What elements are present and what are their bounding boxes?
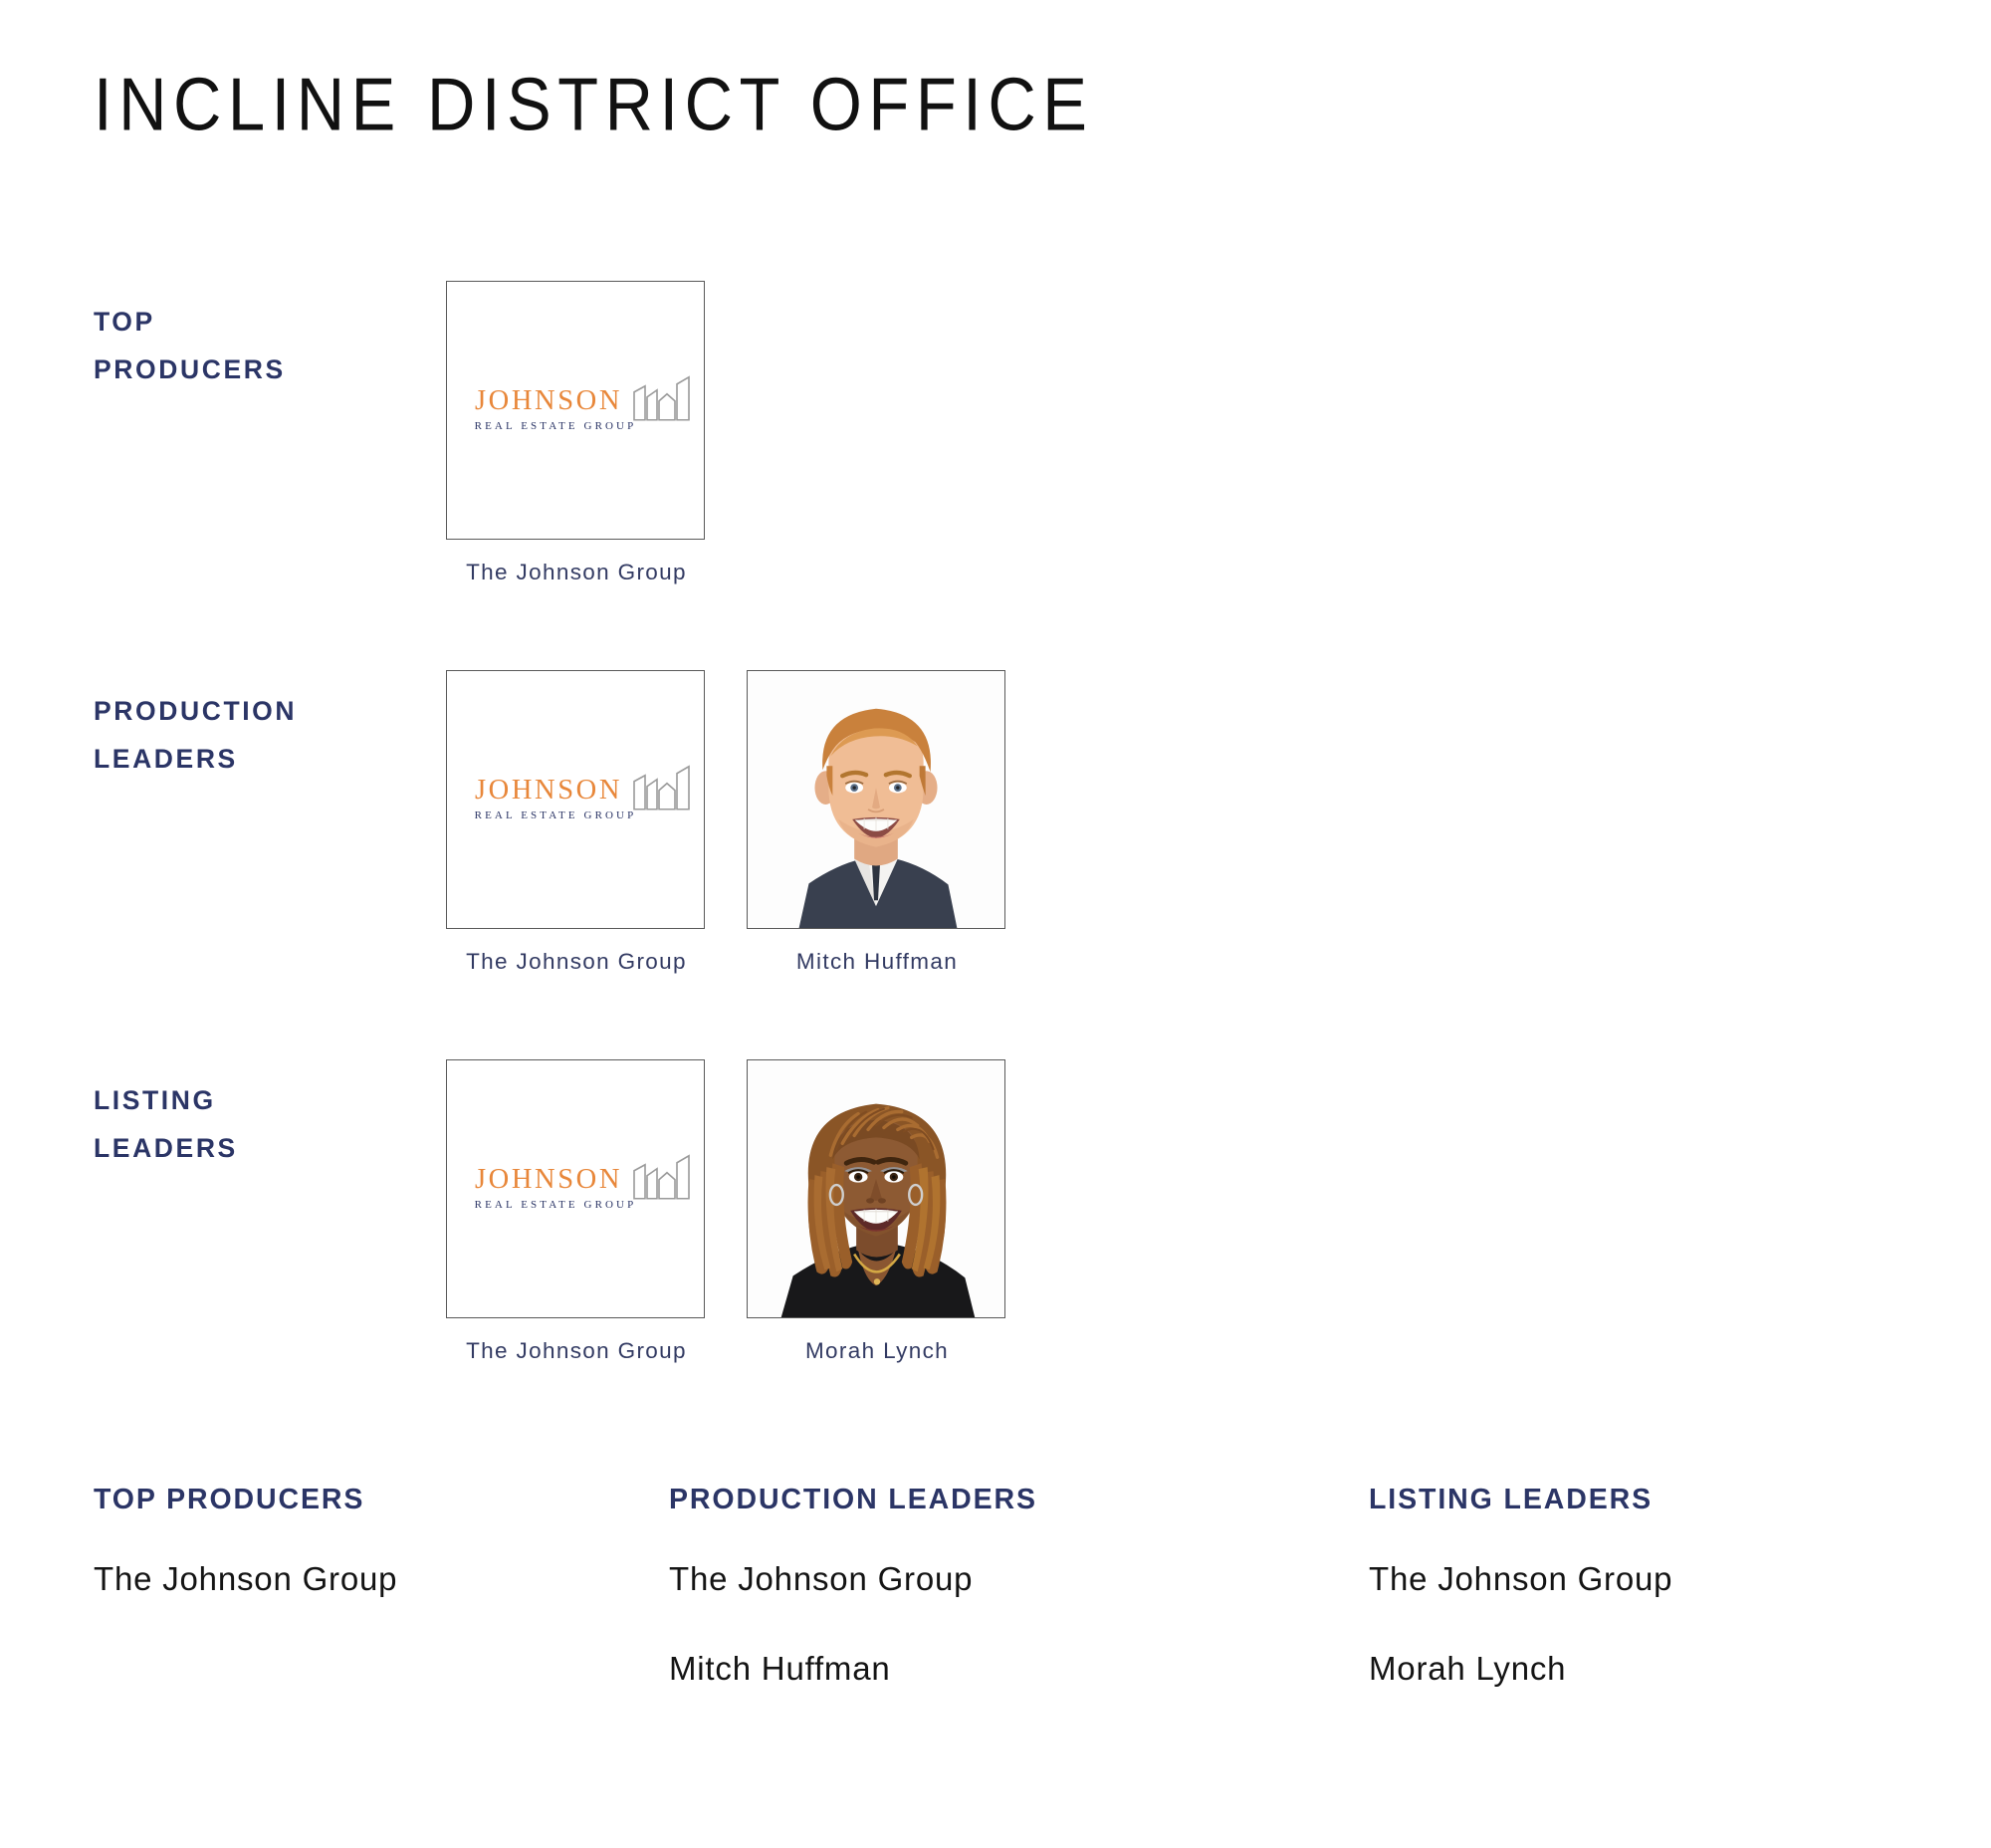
list-item: The Johnson Group xyxy=(1369,1560,1886,1598)
row-label-line-1: TOP xyxy=(94,298,392,346)
johnson-real-estate-group-logo: JOHNSON REAL ESTATE GROUP xyxy=(447,777,704,823)
award-card[interactable]: JOHNSON REAL ESTATE GROUP The Johnson Gr… xyxy=(446,281,707,587)
award-card-caption: The Johnson Group xyxy=(446,558,707,587)
award-card-caption: The Johnson Group xyxy=(446,947,707,977)
logo-wordmark: JOHNSON xyxy=(461,777,637,806)
award-card-caption: Mitch Huffman xyxy=(747,947,1007,977)
award-card[interactable]: Mitch Huffman xyxy=(747,670,1007,977)
award-card-image-frame: JOHNSON REAL ESTATE GROUP xyxy=(446,670,705,929)
summary-column-title: LISTING LEADERS xyxy=(1369,1484,1886,1516)
logo-wordmark: JOHNSON xyxy=(461,1166,637,1195)
list-item: Mitch Huffman xyxy=(669,1650,1187,1688)
summary-column-top-producers: TOP PRODUCERS The Johnson Group xyxy=(94,1484,611,1650)
row-label-line-2: LEADERS xyxy=(94,1124,392,1172)
buildings-icon xyxy=(632,374,692,420)
johnson-real-estate-group-logo: JOHNSON REAL ESTATE GROUP xyxy=(447,387,704,434)
list-item: The Johnson Group xyxy=(669,1560,1187,1598)
row-label-production-leaders: PRODUCTION LEADERS xyxy=(94,687,392,783)
headshot-mitch-huffman xyxy=(748,671,1004,928)
award-card-caption: Morah Lynch xyxy=(747,1336,1007,1366)
award-card[interactable]: Morah Lynch xyxy=(747,1059,1007,1366)
row-label-line-2: PRODUCERS xyxy=(94,346,392,393)
row-label-line-2: LEADERS xyxy=(94,735,392,783)
logo-tagline: REAL ESTATE GROUP xyxy=(461,809,637,820)
award-cards-listing-leaders: JOHNSON REAL ESTATE GROUP The Johnson Gr… xyxy=(446,1059,1007,1366)
summary-column-list: The Johnson Group Mitch Huffman xyxy=(669,1560,1187,1688)
row-label-listing-leaders: LISTING LEADERS xyxy=(94,1076,392,1172)
logo-wordmark: JOHNSON xyxy=(461,387,637,416)
award-cards-top-producers: JOHNSON REAL ESTATE GROUP The Johnson Gr… xyxy=(446,281,707,587)
logo-tagline: REAL ESTATE GROUP xyxy=(461,1199,637,1210)
summary-column-title: TOP PRODUCERS xyxy=(94,1484,611,1516)
award-card-caption: The Johnson Group xyxy=(446,1336,707,1366)
summary-column-listing-leaders: LISTING LEADERS The Johnson Group Morah … xyxy=(1369,1484,1886,1739)
johnson-real-estate-group-logo: JOHNSON REAL ESTATE GROUP xyxy=(447,1166,704,1213)
award-card[interactable]: JOHNSON REAL ESTATE GROUP The Johnson Gr… xyxy=(446,670,707,977)
row-label-line-1: LISTING xyxy=(94,1076,392,1124)
logo-tagline: REAL ESTATE GROUP xyxy=(461,420,637,431)
award-cards-production-leaders: JOHNSON REAL ESTATE GROUP The Johnson Gr… xyxy=(446,670,1007,977)
award-card[interactable]: JOHNSON REAL ESTATE GROUP The Johnson Gr… xyxy=(446,1059,707,1366)
row-label-top-producers: TOP PRODUCERS xyxy=(94,298,392,393)
headshot-morah-lynch xyxy=(748,1060,1004,1317)
summary-column-production-leaders: PRODUCTION LEADERS The Johnson Group Mit… xyxy=(669,1484,1187,1739)
page-title: INCLINE DISTRICT OFFICE xyxy=(94,62,1093,147)
award-card-image-frame xyxy=(747,670,1005,929)
summary-column-list: The Johnson Group Morah Lynch xyxy=(1369,1560,1886,1688)
summary-column-list: The Johnson Group xyxy=(94,1560,611,1598)
buildings-icon xyxy=(632,764,692,809)
summary-column-title: PRODUCTION LEADERS xyxy=(669,1484,1187,1516)
list-item: Morah Lynch xyxy=(1369,1650,1886,1688)
buildings-icon xyxy=(632,1153,692,1199)
award-card-image-frame xyxy=(747,1059,1005,1318)
list-item: The Johnson Group xyxy=(94,1560,611,1598)
award-card-image-frame: JOHNSON REAL ESTATE GROUP xyxy=(446,1059,705,1318)
award-card-image-frame: JOHNSON REAL ESTATE GROUP xyxy=(446,281,705,540)
row-label-line-1: PRODUCTION xyxy=(94,687,392,735)
